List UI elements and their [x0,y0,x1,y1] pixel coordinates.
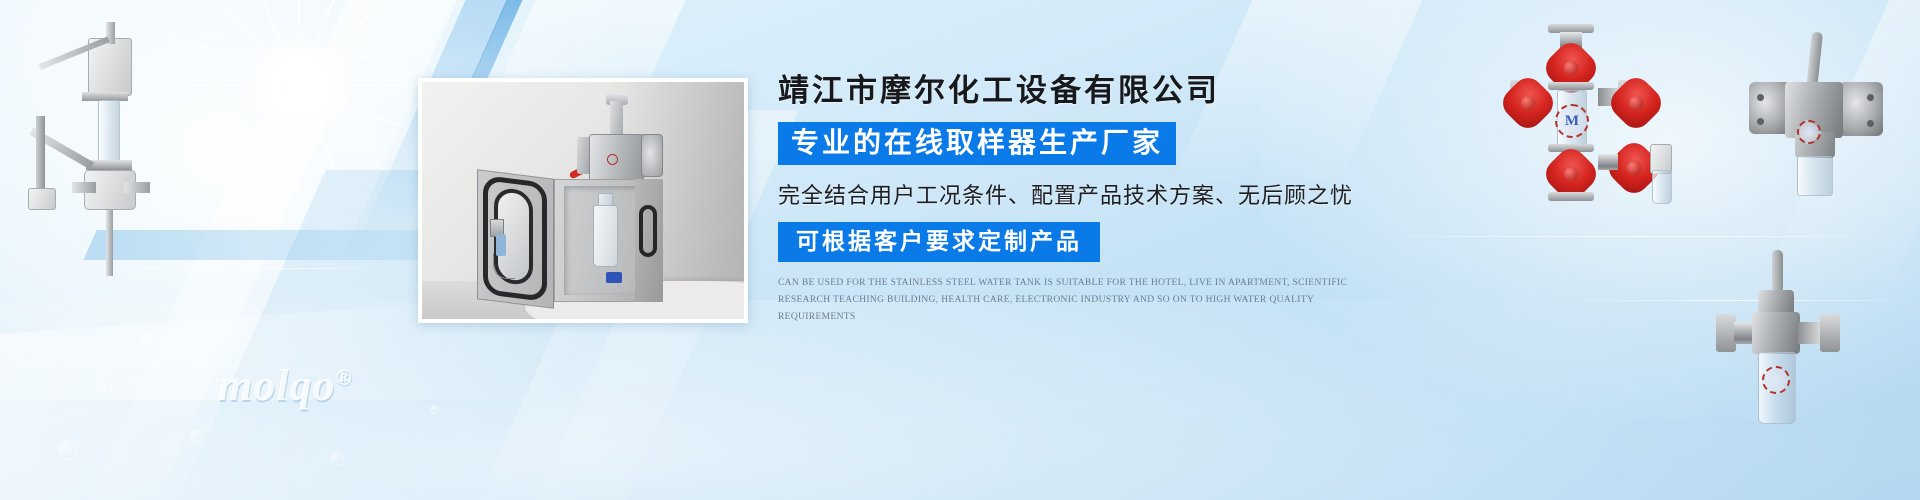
horizon-line-2 [1560,300,1920,301]
product-render-flanged-valve [1745,32,1895,192]
horizon-line-1 [1350,236,1920,237]
product-render-left [10,20,160,270]
product-render-cross-valve: M [1462,24,1712,204]
product-photo [418,78,748,323]
diagonal-shape-10 [1764,0,1920,280]
product-render-clamp-valve [1700,250,1870,440]
english-description: CAN BE USED FOR THE STAINLESS STEEL WATE… [778,275,1388,325]
sun-core [240,25,360,145]
sub-headline: 完全结合用户工况条件、配置产品技术方案、无后顾之忧 [778,178,1418,210]
banner-copy: 靖江市摩尔化工设备有限公司 专业的在线取样器生产厂家 完全结合用户工况条件、配置… [778,72,1418,325]
bubble-decoration [330,452,344,466]
cta-badge[interactable]: 可根据客户要求定制产品 [778,222,1100,262]
bubble-decoration [190,430,201,441]
watermark-logo: molqo® [218,360,353,411]
horizon-line-3 [0,268,420,269]
bubble-decoration [430,405,439,414]
diagonal-shape-5 [83,120,327,500]
bubble-decoration [96,382,112,398]
bubble-decoration [140,330,166,356]
seal-label: M [1557,106,1587,136]
registered-mark: ® [335,364,352,389]
tagline-badge: 专业的在线取样器生产厂家 [778,122,1176,165]
promo-banner: M [0,0,1920,500]
bubble-decoration [58,440,78,460]
watermark-text: molqo [218,361,335,410]
company-name: 靖江市摩尔化工设备有限公司 [778,72,1418,111]
